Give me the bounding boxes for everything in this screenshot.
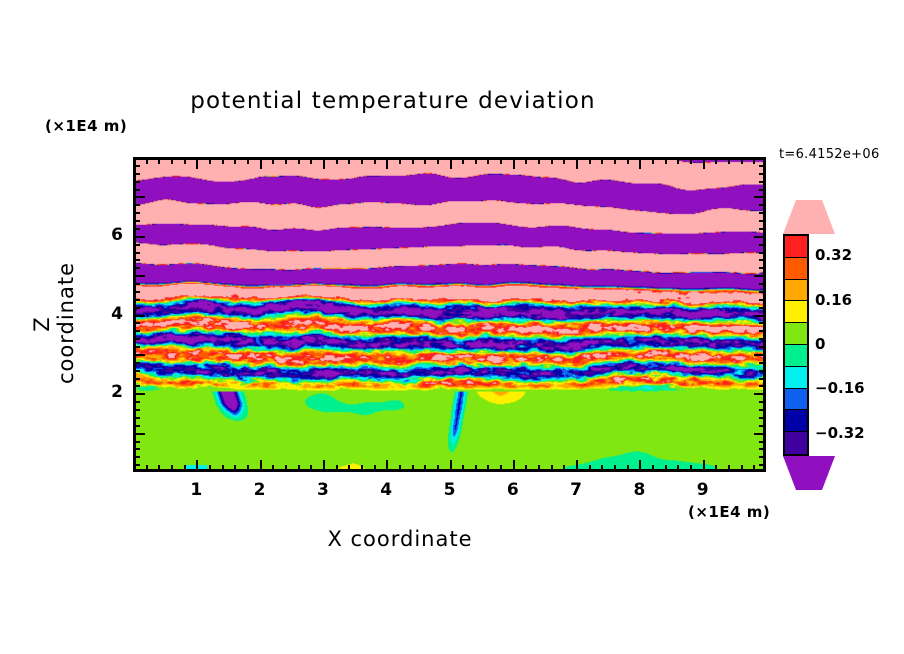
colorbar-under-cap: [783, 456, 835, 490]
x-tick-minor: [475, 465, 477, 472]
x-tick-top: [285, 157, 287, 164]
x-tick-top: [424, 157, 426, 164]
x-tick-minor: [184, 465, 186, 472]
x-tick-minor: [487, 465, 489, 472]
colorbar-band-8: [785, 410, 807, 432]
y-tick-minor: [133, 252, 140, 254]
x-tick-top: [601, 157, 603, 164]
x-tick-minor: [348, 465, 350, 472]
y-tick-right: [759, 401, 766, 403]
x-tick-minor: [462, 465, 464, 472]
colorbar-band-9: [785, 432, 807, 454]
y-tick-right: [759, 165, 766, 167]
y-tick-minor: [133, 401, 140, 403]
x-tick-minor: [728, 465, 730, 472]
x-tick-top: [298, 157, 300, 164]
y-tick-right: [759, 267, 766, 269]
x-tick-major: [323, 460, 325, 472]
y-tick-right: [759, 322, 766, 324]
contour-plot-area: [133, 157, 766, 472]
y-tick-right: [759, 299, 766, 301]
y-tick-major: [133, 196, 145, 198]
y-tick-minor: [133, 244, 140, 246]
x-tick-label-4: 4: [374, 480, 398, 500]
y-tick-major: [133, 354, 145, 356]
x-tick-top: [728, 157, 730, 164]
x-tick-minor: [222, 465, 224, 472]
x-tick-top: [753, 157, 755, 164]
x-tick-label-1: 1: [184, 480, 208, 500]
y-tick-minor: [133, 165, 140, 167]
x-tick-minor: [412, 465, 414, 472]
x-tick-label-9: 9: [691, 480, 715, 500]
colorbar-label-4: −0.32: [815, 424, 865, 442]
y-tick-right: [759, 228, 766, 230]
x-tick-minor: [601, 465, 603, 472]
x-tick-top: [386, 157, 388, 169]
y-tick-right: [759, 307, 766, 309]
colorbar: [783, 200, 813, 490]
y-tick-right: [754, 433, 766, 435]
x-tick-label-3: 3: [311, 480, 335, 500]
x-tick-minor: [171, 465, 173, 472]
y-tick-minor: [133, 330, 140, 332]
x-tick-minor: [361, 465, 363, 472]
x-tick-top: [196, 157, 198, 169]
y-tick-right: [759, 425, 766, 427]
x-tick-top: [703, 157, 705, 169]
y-tick-right: [759, 409, 766, 411]
y-tick-right: [759, 464, 766, 466]
z-axis-unit-label: (×1E4 m): [45, 117, 127, 135]
y-tick-right: [759, 181, 766, 183]
page-title: potential temperature deviation: [0, 88, 786, 114]
x-tick-top: [450, 157, 452, 169]
y-tick-right: [759, 173, 766, 175]
x-tick-major: [639, 460, 641, 472]
x-tick-major: [386, 460, 388, 472]
y-tick-label-4: 4: [99, 304, 123, 324]
colorbar-band-0: [785, 236, 807, 258]
x-tick-minor: [285, 465, 287, 472]
x-tick-minor: [399, 465, 401, 472]
y-tick-right: [759, 189, 766, 191]
x-tick-minor: [310, 465, 312, 472]
x-tick-minor: [551, 465, 553, 472]
y-tick-minor: [133, 220, 140, 222]
time-annotation: t=6.4152e+06: [779, 147, 880, 162]
y-tick-right: [759, 456, 766, 458]
x-tick-top: [500, 157, 502, 164]
y-tick-label-6: 6: [99, 225, 123, 245]
colorbar-bands: [783, 234, 809, 456]
y-tick-major: [133, 315, 145, 317]
x-tick-top: [652, 157, 654, 164]
x-tick-top: [209, 157, 211, 164]
y-axis-label: Z coordinate: [30, 264, 78, 384]
y-tick-right: [759, 448, 766, 450]
x-tick-major: [260, 460, 262, 472]
y-tick-right: [759, 283, 766, 285]
x-tick-minor: [272, 465, 274, 472]
y-tick-minor: [133, 464, 140, 466]
x-tick-top: [184, 157, 186, 164]
x-tick-minor: [589, 465, 591, 472]
y-tick-right: [759, 441, 766, 443]
colorbar-band-2: [785, 280, 807, 302]
y-tick-right: [759, 346, 766, 348]
y-tick-minor: [133, 283, 140, 285]
x-tick-major: [196, 460, 198, 472]
x-tick-top: [576, 157, 578, 169]
y-tick-minor: [133, 409, 140, 411]
y-tick-right: [754, 393, 766, 395]
y-tick-minor: [133, 378, 140, 380]
y-tick-minor: [133, 385, 140, 387]
x-tick-top: [627, 157, 629, 164]
y-tick-right: [759, 204, 766, 206]
x-tick-top: [323, 157, 325, 169]
y-tick-major: [133, 275, 145, 277]
y-tick-minor: [133, 291, 140, 293]
x-tick-top: [437, 157, 439, 164]
x-tick-minor: [298, 465, 300, 472]
x-tick-top: [563, 157, 565, 164]
y-tick-minor: [133, 370, 140, 372]
x-tick-minor: [209, 465, 211, 472]
y-tick-minor: [133, 204, 140, 206]
x-tick-minor: [247, 465, 249, 472]
y-tick-right: [754, 354, 766, 356]
x-tick-top: [462, 157, 464, 164]
x-tick-label-7: 7: [564, 480, 588, 500]
y-tick-minor: [133, 173, 140, 175]
x-tick-top: [171, 157, 173, 164]
x-tick-major: [513, 460, 515, 472]
x-tick-minor: [614, 465, 616, 472]
y-tick-right: [759, 338, 766, 340]
y-tick-right: [759, 212, 766, 214]
y-tick-right: [759, 220, 766, 222]
x-tick-minor: [234, 465, 236, 472]
y-tick-right: [754, 196, 766, 198]
colorbar-band-4: [785, 323, 807, 345]
x-tick-minor: [500, 465, 502, 472]
colorbar-band-6: [785, 367, 807, 389]
colorbar-band-7: [785, 389, 807, 411]
y-tick-right: [759, 378, 766, 380]
y-tick-minor: [133, 299, 140, 301]
x-tick-top: [158, 157, 160, 164]
x-tick-minor: [690, 465, 692, 472]
x-tick-label-8: 8: [627, 480, 651, 500]
x-tick-top: [399, 157, 401, 164]
x-tick-top: [487, 157, 489, 164]
x-tick-top: [614, 157, 616, 164]
x-tick-top: [222, 157, 224, 164]
x-tick-top: [690, 157, 692, 164]
x-tick-top: [348, 157, 350, 164]
y-tick-minor: [133, 362, 140, 364]
y-tick-minor: [133, 338, 140, 340]
x-tick-minor: [158, 465, 160, 472]
y-tick-minor: [133, 448, 140, 450]
y-tick-minor: [133, 212, 140, 214]
x-tick-minor: [336, 465, 338, 472]
x-tick-minor: [627, 465, 629, 472]
x-tick-minor: [741, 465, 743, 472]
y-tick-minor: [133, 441, 140, 443]
y-tick-right: [759, 244, 766, 246]
x-tick-minor: [665, 465, 667, 472]
colorbar-label-2: 0: [815, 335, 825, 353]
colorbar-label-0: 0.32: [815, 246, 852, 264]
colorbar-over-cap: [783, 200, 835, 234]
y-tick-right: [759, 362, 766, 364]
y-tick-minor: [133, 456, 140, 458]
x-tick-major: [703, 460, 705, 472]
x-axis-label: X coordinate: [250, 527, 550, 551]
x-tick-top: [589, 157, 591, 164]
x-tick-top: [146, 157, 148, 164]
colorbar-label-3: −0.16: [815, 379, 865, 397]
x-axis-unit-label: (×1E4 m): [688, 503, 770, 521]
x-tick-minor: [563, 465, 565, 472]
x-tick-top: [741, 157, 743, 164]
y-tick-minor: [133, 228, 140, 230]
x-tick-minor: [753, 465, 755, 472]
y-tick-right: [754, 236, 766, 238]
x-tick-top: [665, 157, 667, 164]
x-tick-top: [361, 157, 363, 164]
y-tick-minor: [133, 267, 140, 269]
y-tick-right: [759, 259, 766, 261]
x-tick-minor: [715, 465, 717, 472]
x-tick-top: [310, 157, 312, 164]
x-tick-top: [412, 157, 414, 164]
y-tick-right: [759, 252, 766, 254]
y-tick-major: [133, 433, 145, 435]
y-tick-right: [759, 385, 766, 387]
x-tick-top: [551, 157, 553, 164]
y-tick-right: [759, 417, 766, 419]
x-tick-top: [475, 157, 477, 164]
x-tick-top: [336, 157, 338, 164]
y-tick-right: [759, 291, 766, 293]
x-tick-minor: [525, 465, 527, 472]
y-tick-minor: [133, 307, 140, 309]
colorbar-band-3: [785, 301, 807, 323]
x-tick-top: [677, 157, 679, 164]
x-tick-top: [715, 157, 717, 164]
x-tick-top: [538, 157, 540, 164]
x-tick-minor: [538, 465, 540, 472]
x-tick-top: [234, 157, 236, 164]
y-tick-right: [754, 275, 766, 277]
y-tick-right: [759, 330, 766, 332]
y-tick-minor: [133, 259, 140, 261]
colorbar-label-1: 0.16: [815, 291, 852, 309]
y-tick-right: [759, 370, 766, 372]
x-tick-top: [513, 157, 515, 169]
x-tick-major: [576, 460, 578, 472]
x-tick-major: [450, 460, 452, 472]
x-tick-label-6: 6: [501, 480, 525, 500]
colorbar-band-5: [785, 345, 807, 367]
x-tick-minor: [374, 465, 376, 472]
x-tick-top: [260, 157, 262, 169]
x-tick-top: [525, 157, 527, 164]
x-tick-top: [374, 157, 376, 164]
x-tick-top: [247, 157, 249, 164]
x-tick-minor: [677, 465, 679, 472]
y-tick-minor: [133, 417, 140, 419]
y-tick-minor: [133, 425, 140, 427]
x-tick-top: [639, 157, 641, 169]
y-tick-minor: [133, 322, 140, 324]
y-tick-minor: [133, 189, 140, 191]
y-tick-minor: [133, 346, 140, 348]
y-tick-major: [133, 393, 145, 395]
x-tick-minor: [146, 465, 148, 472]
x-tick-minor: [437, 465, 439, 472]
y-tick-minor: [133, 181, 140, 183]
y-tick-right: [754, 315, 766, 317]
y-tick-label-2: 2: [99, 382, 123, 402]
x-tick-label-5: 5: [438, 480, 462, 500]
y-tick-major: [133, 236, 145, 238]
heatmap-canvas: [136, 160, 763, 469]
x-tick-minor: [424, 465, 426, 472]
x-tick-top: [272, 157, 274, 164]
colorbar-band-1: [785, 258, 807, 280]
x-tick-minor: [652, 465, 654, 472]
x-tick-label-2: 2: [248, 480, 272, 500]
